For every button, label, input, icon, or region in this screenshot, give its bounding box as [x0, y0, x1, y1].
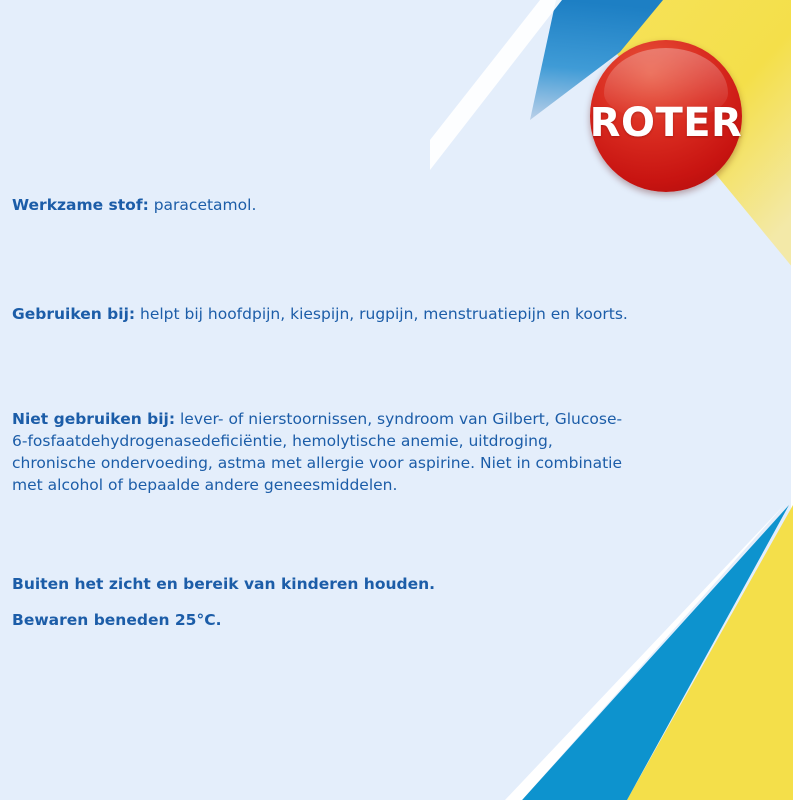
medicine-package-panel: ROTER Werkzame stof: paracetamol. Gebrui…	[0, 0, 800, 800]
bottom-right-yellow-band	[627, 505, 793, 800]
spacer	[12, 511, 632, 573]
section-indications-label: Gebruiken bij:	[12, 305, 135, 323]
section-active-ingredient-label: Werkzame stof:	[12, 196, 149, 214]
roter-logo-badge: ROTER	[590, 40, 742, 192]
section-contraindications-label: Niet gebruiken bij:	[12, 410, 175, 428]
top-right-white-edge	[430, 0, 562, 170]
storage-warnings: Buiten het zicht en bereik van kinderen …	[12, 573, 632, 631]
leaflet-text-body: Werkzame stof: paracetamol. Gebruiken bi…	[12, 178, 632, 631]
section-indications-text: helpt bij hoofdpijn, kiespijn, rugpijn, …	[135, 305, 628, 323]
roter-logo-text: ROTER	[590, 100, 743, 146]
section-active-ingredient: Werkzame stof: paracetamol.	[12, 194, 632, 216]
warning-keep-away-from-children: Buiten het zicht en bereik van kinderen …	[12, 573, 632, 595]
spacer	[12, 340, 632, 392]
section-active-ingredient-text: paracetamol.	[149, 196, 257, 214]
section-contraindications: Niet gebruiken bij: lever- of nierstoorn…	[12, 408, 632, 496]
section-indications: Gebruiken bij: helpt bij hoofdpijn, kies…	[12, 303, 632, 325]
warning-storage-temperature: Bewaren beneden 25°C.	[12, 609, 632, 631]
spacer	[12, 231, 632, 287]
right-margin-strip	[791, 0, 800, 800]
